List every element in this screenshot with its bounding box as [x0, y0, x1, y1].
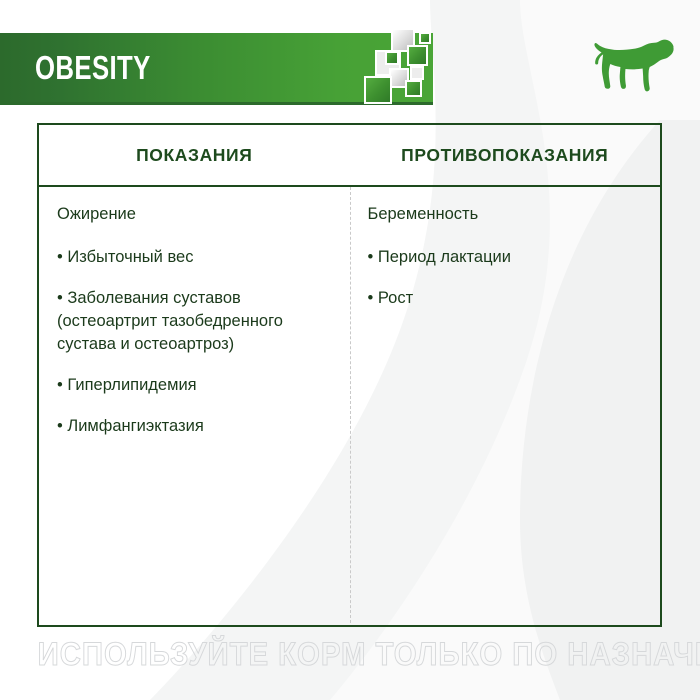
list-item: • Лимфангиэктазия	[57, 415, 334, 438]
mosaic-square-green-1	[419, 32, 431, 44]
disclaimer-banner: ИСПОЛЬЗУЙТЕ КОРМ ТОЛЬКО ПО НАЗНАЧЕНИЮ ВР…	[0, 636, 700, 673]
table-header-contraindications: ПРОТИВОПОКАЗАНИЯ	[350, 125, 661, 185]
table-header-indications-label: ПОКАЗАНИЯ	[136, 145, 252, 166]
list-item: • Период лактации	[368, 246, 645, 269]
indications-column: Ожирение • Избыточный вес • Заболевания …	[39, 187, 350, 623]
list-item: Ожирение	[57, 203, 334, 226]
list-item: • Гиперлипидемия	[57, 374, 334, 397]
list-item: • Избыточный вес	[57, 246, 334, 269]
mosaic-square-gray-3	[410, 66, 424, 80]
indications-table: ПОКАЗАНИЯ ПРОТИВОПОКАЗАНИЯ Ожирение • Из…	[37, 123, 662, 627]
table-header-row: ПОКАЗАНИЯ ПРОТИВОПОКАЗАНИЯ	[39, 125, 660, 187]
mosaic-squares-decoration	[375, 28, 455, 110]
mosaic-square-green-2	[407, 45, 428, 66]
dog-icon	[582, 33, 678, 101]
list-item: Беременность	[368, 203, 645, 226]
list-item: • Рост	[368, 287, 645, 310]
mosaic-square-green-4	[405, 80, 422, 97]
list-item: • Заболевания суставов (остеоартрит тазо…	[57, 287, 334, 356]
column-divider	[350, 187, 351, 623]
table-body: Ожирение • Избыточный вес • Заболевания …	[39, 187, 660, 623]
contraindications-column: Беременность • Период лактации • Рост	[350, 187, 661, 623]
mosaic-square-green-3	[385, 51, 399, 65]
disclaimer-text: ИСПОЛЬЗУЙТЕ КОРМ ТОЛЬКО ПО НАЗНАЧЕНИЮ ВР…	[38, 636, 700, 673]
table-header-indications: ПОКАЗАНИЯ	[39, 125, 350, 185]
mosaic-square-green-5	[364, 76, 392, 104]
table-header-contraindications-label: ПРОТИВОПОКАЗАНИЯ	[401, 145, 608, 166]
page-title: OBESITY	[35, 50, 151, 83]
obesity-info-card: OBESITY ПОКАЗАНИЯ ПРОТИВОПОКАЗАНИЯ	[0, 0, 700, 700]
